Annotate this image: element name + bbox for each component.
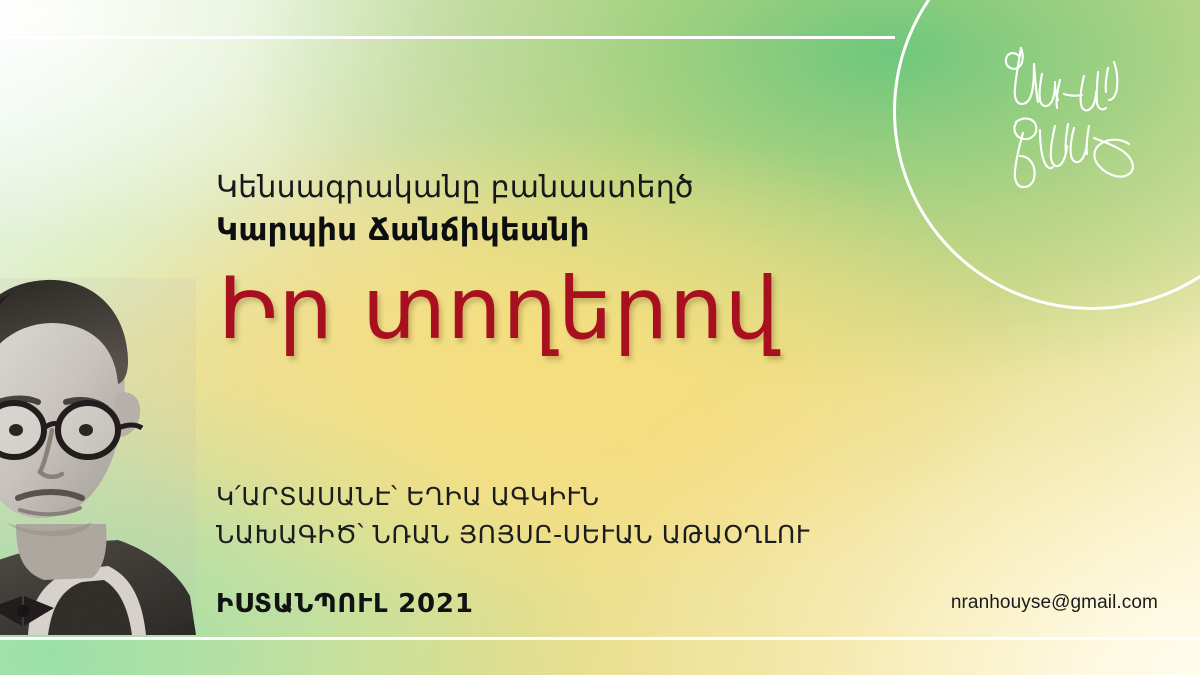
credits-block: Կ՛ԱՐՏԱՍԱՆԷ՝ ԵՂԻԱ ԱԳԿԻՒՆ ՆԱԽԱԳԻԾ՝ ՆՌԱՆ ՅՈ… — [216, 478, 976, 554]
credit-line-project: ՆԱԽԱԳԻԾ՝ ՆՌԱՆ ՅՈՅՍԸ-ՍԵՒԱՆ ԱԹԱՕՂԼՈՒ — [216, 516, 976, 554]
place-and-year: ԻՍՏԱՆՊՈՒԼ 2021 — [216, 589, 474, 619]
decor-line-bottom — [0, 637, 1200, 640]
nran-houyse-handwritten-logo — [988, 34, 1188, 184]
portrait-photo-karpis-jenjikian — [0, 278, 196, 635]
eyebrow-line-2: Կարպիս Ճանճիկեանի — [216, 212, 916, 249]
credit-line-reciter: Կ՛ԱՐՏԱՍԱՆԷ՝ ԵՂԻԱ ԱԳԿԻՒՆ — [216, 478, 976, 516]
decor-line-top — [0, 36, 895, 39]
contact-email[interactable]: nranhouyse@gmail.com — [951, 592, 1158, 614]
heading-block: Կենսագրականը բանաստեղծ Կարպիս Ճանճիկեանի… — [216, 170, 916, 354]
slide-canvas: Կենսագրականը բանաստեղծ Կարպիս Ճանճիկեանի… — [0, 0, 1200, 675]
page-title: Իր տողերով — [218, 264, 916, 354]
eyebrow-line-1: Կենսագրականը բանաստեղծ — [216, 170, 916, 205]
